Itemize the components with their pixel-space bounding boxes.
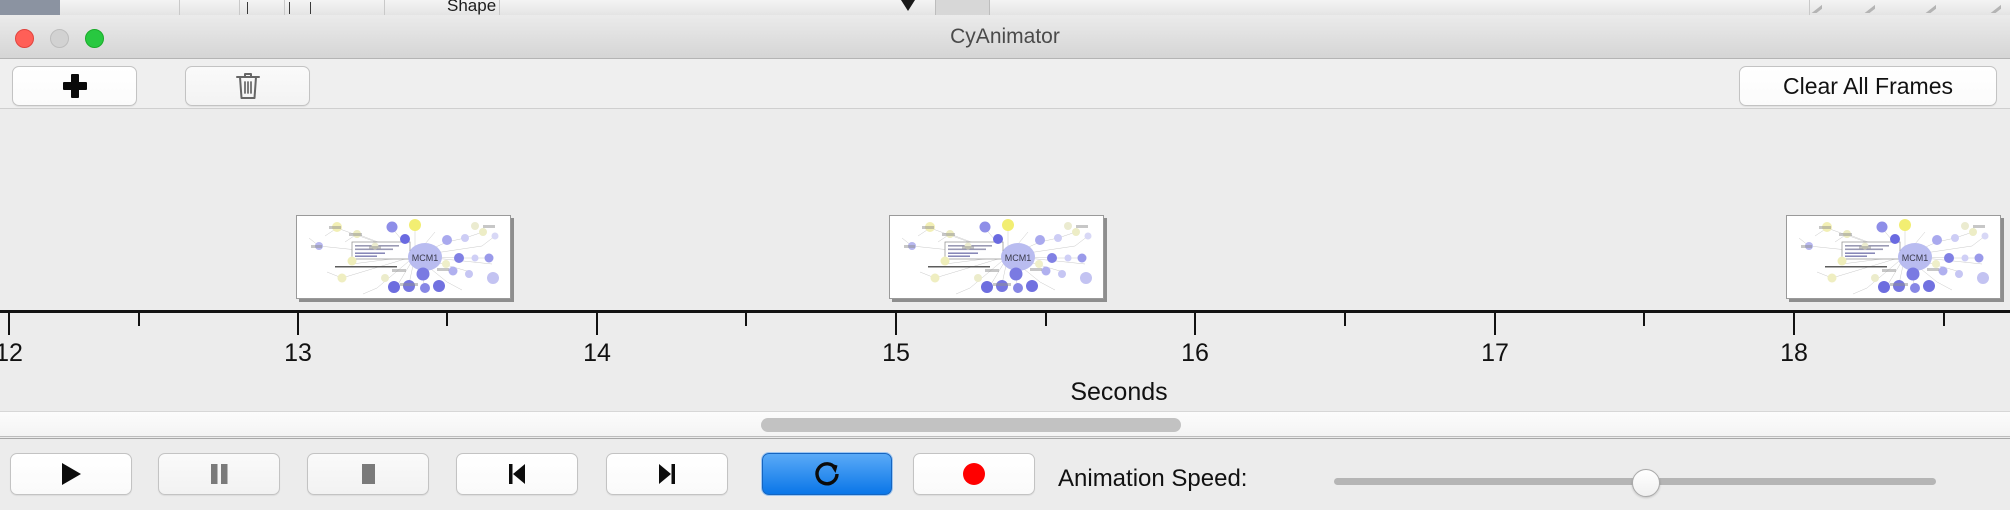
cyanimator-window: Shape CyAnimator Clear All Frames (0, 0, 2010, 510)
timeline-frame-thumbnail[interactable]: MCM1 (296, 215, 511, 299)
timeline-panel[interactable]: 12131415161718 MCM1 (0, 110, 2010, 410)
axis-tick-major (297, 313, 299, 335)
axis-tick-major (596, 313, 598, 335)
network-graph: MCM1 (297, 216, 510, 298)
loop-button[interactable] (762, 453, 892, 495)
loop-icon (812, 459, 842, 489)
background-slash-icon (1922, 1, 1936, 13)
background-window-strip: Shape (0, 0, 2010, 15)
axis-tick-minor (446, 313, 448, 326)
clear-all-frames-label: Clear All Frames (1783, 73, 1953, 100)
axis-tick-label: 15 (882, 339, 910, 368)
network-graph: MCM1 (1787, 216, 2000, 298)
background-slash-icon (1987, 1, 2001, 13)
axis-tick-minor (1643, 313, 1645, 326)
axis-tick-major (895, 313, 897, 335)
background-slash-icon (1861, 1, 1875, 13)
axis-tick-major (1793, 313, 1795, 335)
background-segment (285, 0, 385, 15)
record-button[interactable] (913, 453, 1035, 495)
skip-forward-icon (654, 460, 680, 488)
timeline-frame-thumbnail[interactable]: MCM1 (1786, 215, 2001, 299)
background-tick (247, 2, 248, 14)
timeline-axis (0, 310, 2010, 313)
background-slash-icon (1808, 1, 1822, 13)
background-segment (935, 0, 990, 15)
record-icon (961, 461, 987, 487)
axis-tick-major (1494, 313, 1496, 335)
background-caret-icon (901, 0, 915, 11)
background-segment (60, 0, 180, 15)
delete-frame-button[interactable] (185, 66, 310, 106)
previous-frame-button[interactable] (456, 453, 578, 495)
background-sidebar-segment (0, 0, 60, 15)
play-button[interactable] (10, 453, 132, 495)
pause-button[interactable] (158, 453, 280, 495)
axis-tick-label: 16 (1181, 339, 1209, 368)
next-frame-button[interactable] (606, 453, 728, 495)
axis-tick-label: 12 (0, 339, 23, 368)
background-segment (990, 0, 1810, 15)
axis-title: Seconds (1070, 378, 1167, 407)
axis-tick-label: 17 (1481, 339, 1509, 368)
axis-tick-label: 18 (1780, 339, 1808, 368)
background-segment (180, 0, 240, 15)
axis-tick-major (8, 313, 10, 335)
add-frame-button[interactable] (12, 66, 137, 106)
axis-tick-minor (1045, 313, 1047, 326)
pause-icon (206, 460, 232, 488)
timeline-scrollbar-thumb[interactable] (761, 418, 1181, 432)
window-title: CyAnimator (0, 15, 2010, 59)
axis-tick-minor (1344, 313, 1346, 326)
play-icon (58, 460, 84, 488)
stop-button[interactable] (307, 453, 429, 495)
background-tick (310, 2, 311, 14)
plus-icon (63, 74, 87, 98)
animation-speed-slider-knob[interactable] (1632, 469, 1660, 497)
frame-toolbar: Clear All Frames (0, 59, 2010, 109)
axis-tick-label: 13 (284, 339, 312, 368)
svg-text:MCM1: MCM1 (1005, 253, 1032, 263)
animation-speed-label: Animation Speed: (1058, 465, 1247, 493)
title-bar: CyAnimator (0, 15, 2010, 59)
skip-back-icon (504, 460, 530, 488)
stop-icon (355, 460, 381, 488)
svg-text:MCM1: MCM1 (412, 253, 439, 263)
axis-tick-minor (1943, 313, 1945, 326)
background-window-label: Shape (447, 0, 496, 15)
axis-tick-minor (138, 313, 140, 326)
timeline-scrollbar[interactable] (0, 411, 2010, 437)
axis-tick-minor (745, 313, 747, 326)
trash-icon (235, 71, 261, 101)
timeline-frame-thumbnail[interactable]: MCM1 (889, 215, 1104, 299)
svg-text:MCM1: MCM1 (1902, 253, 1929, 263)
axis-tick-major (1194, 313, 1196, 335)
axis-tick-label: 14 (583, 339, 611, 368)
playback-control-bar: Animation Speed: (0, 438, 2010, 510)
background-tick (289, 2, 290, 14)
network-graph: MCM1 (890, 216, 1103, 298)
clear-all-frames-button[interactable]: Clear All Frames (1739, 66, 1997, 106)
